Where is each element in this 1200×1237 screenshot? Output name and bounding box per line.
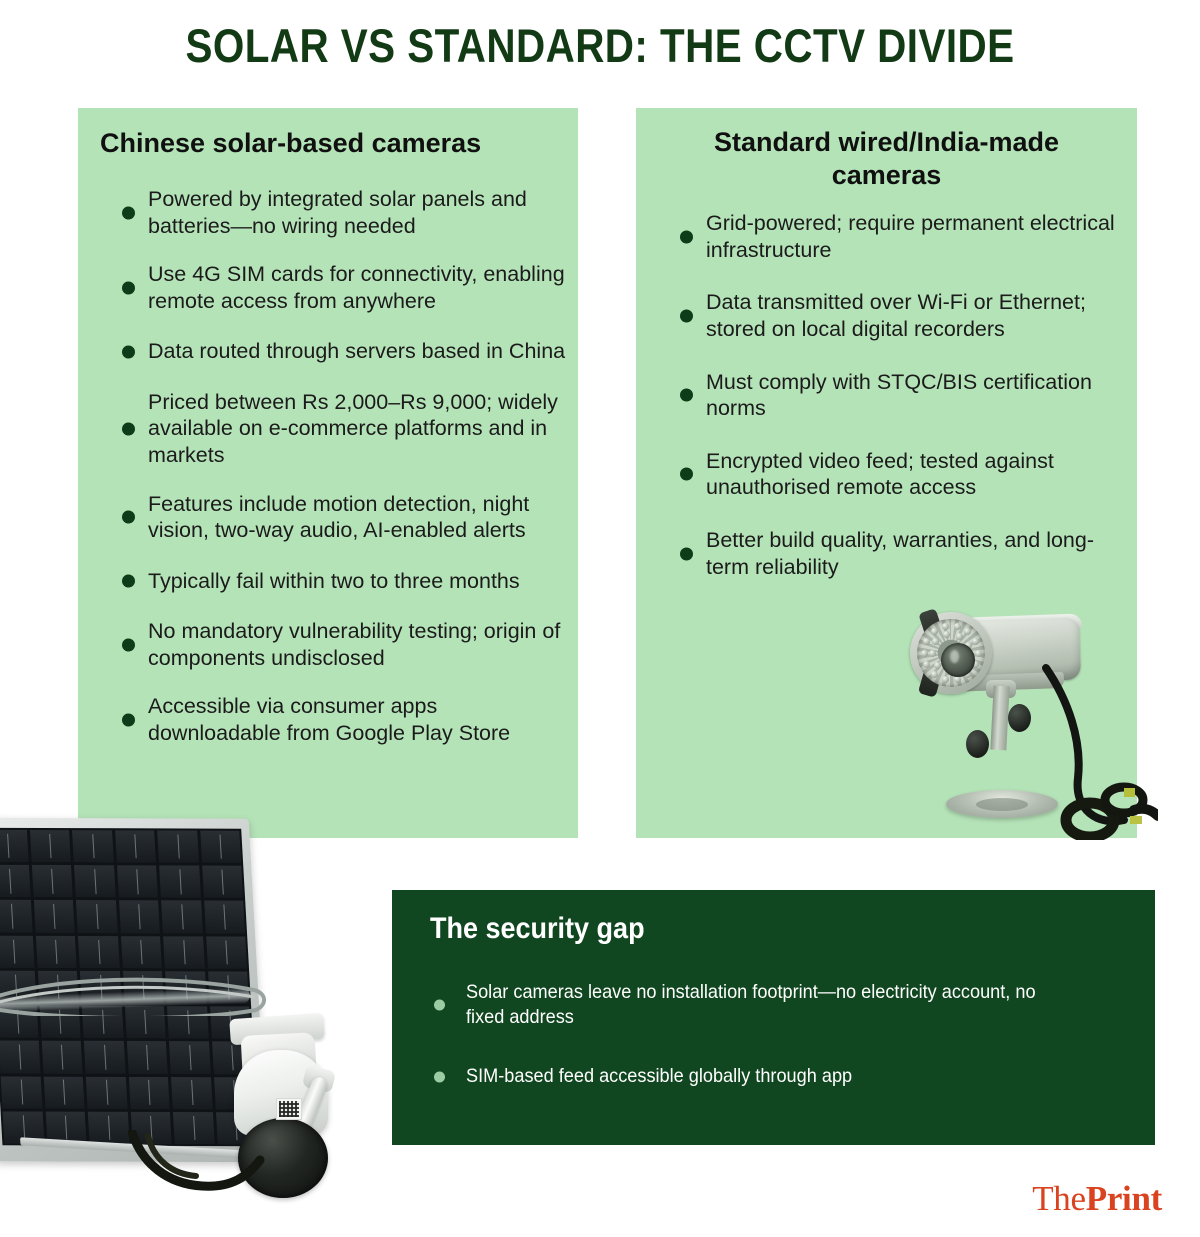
solar-cell xyxy=(117,865,158,897)
list-item: SIM-based feed accessible globally throu… xyxy=(430,1064,1115,1090)
solar-cell xyxy=(86,1076,127,1108)
solar-cell xyxy=(35,935,76,967)
bullet-dot-icon xyxy=(122,281,135,294)
solar-cell xyxy=(29,830,70,862)
solar-cell xyxy=(31,865,72,897)
solar-cell xyxy=(157,830,198,862)
cctv-base-inner-ring xyxy=(976,798,1028,811)
solar-cell xyxy=(72,830,113,862)
panel-heading-chinese-solar: Chinese solar-based cameras xyxy=(100,127,578,160)
solar-panel-cable xyxy=(128,1130,288,1234)
cctv-ir-led xyxy=(975,650,982,657)
solar-cell xyxy=(128,1076,169,1108)
list-item: Better build quality, warranties, and lo… xyxy=(658,527,1133,580)
list-item-text: Data routed through servers based in Chi… xyxy=(148,338,565,365)
list-item-text: Typically fail within two to three month… xyxy=(148,568,520,595)
solar-cell xyxy=(159,866,200,898)
list-item: Grid-powered; require permanent electric… xyxy=(658,210,1133,263)
list-item: No mandatory vulnerability testing; orig… xyxy=(100,618,574,671)
cctv-ir-led xyxy=(929,650,936,657)
list-item-text: Powered by integrated solar panels and b… xyxy=(148,186,574,239)
cctv-ir-led xyxy=(942,676,949,683)
page-title: SOLAR VS STANDARD: THE CCTV DIVIDE xyxy=(84,18,1116,73)
solar-cell xyxy=(120,936,161,968)
solar-cell xyxy=(163,936,204,968)
solar-panel-wire-hoop xyxy=(0,970,272,1016)
cctv-bracket-arm xyxy=(990,686,1009,751)
cctv-adjust-knob xyxy=(966,730,989,758)
cctv-power-cable xyxy=(1038,660,1158,840)
list-item: Must comply with STQC/BIS certification … xyxy=(658,369,1133,422)
cctv-adjust-knob xyxy=(1008,704,1031,732)
cctv-ir-led xyxy=(943,631,950,638)
list-item-text: Accessible via consumer apps downloadabl… xyxy=(148,693,574,746)
solar-cell xyxy=(161,901,202,933)
list-item: Accessible via consumer apps downloadabl… xyxy=(100,693,574,746)
cctv-infrared-led-ring xyxy=(917,619,985,687)
list-item: Data routed through servers based in Chi… xyxy=(100,337,574,367)
bullet-dot-icon xyxy=(122,713,135,726)
cctv-ir-led xyxy=(964,628,971,635)
list-item: Powered by integrated solar panels and b… xyxy=(100,186,574,239)
bullet-dot-icon xyxy=(122,206,135,219)
list-item: Priced between Rs 2,000–Rs 9,000; widely… xyxy=(100,389,574,469)
bullet-list-security-gap: Solar cameras leave no installation foot… xyxy=(430,980,1115,1090)
list-item: Use 4G SIM cards for connectivity, enabl… xyxy=(100,261,574,314)
solar-cell xyxy=(1,1076,42,1108)
solar-cell xyxy=(0,830,28,862)
solar-cell xyxy=(0,1041,40,1073)
security-gap-box: The security gap Solar cameras leave no … xyxy=(392,890,1155,1145)
list-item-text: Must comply with STQC/BIS certification … xyxy=(706,369,1133,422)
list-item-text: Better build quality, warranties, and lo… xyxy=(706,527,1133,580)
bullet-list-chinese-solar: Powered by integrated solar panels and b… xyxy=(100,186,574,747)
bullet-dot-icon xyxy=(434,999,445,1010)
solar-cell xyxy=(74,865,115,897)
list-item-text: Data transmitted over Wi-Fi or Ethernet;… xyxy=(706,289,1133,342)
cctv-ir-led xyxy=(942,623,949,630)
solar-cell xyxy=(0,900,32,932)
cctv-lens-housing xyxy=(910,612,992,694)
solar-cell xyxy=(206,936,247,968)
list-item-text: Use 4G SIM cards for connectivity, enabl… xyxy=(148,261,574,314)
solar-cell xyxy=(126,1041,167,1073)
solar-cell xyxy=(171,1077,212,1109)
bullet-dot-icon xyxy=(122,638,135,651)
panel-chinese-solar-cameras: Chinese solar-based cameras Powered by i… xyxy=(78,108,578,838)
solar-cell xyxy=(115,830,156,862)
solar-cell xyxy=(76,900,117,932)
cctv-ir-led xyxy=(932,638,939,645)
security-gap-heading: The security gap xyxy=(430,912,1083,946)
list-item-text: Encrypted video feed; tested against una… xyxy=(706,448,1133,501)
solar-cell xyxy=(84,1041,125,1073)
solar-cell xyxy=(0,935,34,967)
list-item: Features include motion detection, night… xyxy=(100,491,574,544)
bullet-dot-icon xyxy=(122,511,135,524)
solar-cell xyxy=(78,936,119,968)
solar-cell xyxy=(204,901,245,933)
bullet-dot-icon xyxy=(122,422,135,435)
bullet-list-standard-wired: Grid-powered; require permanent electric… xyxy=(658,210,1133,581)
cctv-ir-led xyxy=(923,638,930,645)
bullet-dot-icon xyxy=(122,574,135,587)
list-item: Encrypted video feed; tested against una… xyxy=(658,448,1133,501)
list-item-text: SIM-based feed accessible globally throu… xyxy=(466,1064,852,1089)
list-item-text: Grid-powered; require permanent electric… xyxy=(706,210,1133,263)
bullet-dot-icon xyxy=(122,345,135,358)
panel-heading-standard-wired: Standard wired/India-made cameras xyxy=(666,126,1107,192)
list-item: Typically fail within two to three month… xyxy=(100,566,574,596)
cctv-ir-led xyxy=(931,628,938,635)
bullet-dot-icon xyxy=(680,230,693,243)
cctv-ir-led xyxy=(923,661,930,668)
bullet-dot-icon xyxy=(680,547,693,560)
solar-cell xyxy=(200,831,241,863)
solar-cell xyxy=(169,1041,210,1073)
solar-cell xyxy=(43,1076,84,1108)
theprint-logo: ThePrint xyxy=(1032,1179,1162,1219)
cctv-ir-led xyxy=(956,633,963,640)
list-item: Solar cameras leave no installation foot… xyxy=(430,980,1115,1030)
cctv-ir-led xyxy=(931,671,938,678)
solar-cell xyxy=(0,865,30,897)
solar-cell xyxy=(33,900,74,932)
bullet-dot-icon xyxy=(680,468,693,481)
bullet-dot-icon xyxy=(680,309,693,322)
logo-text-print: Print xyxy=(1086,1179,1162,1218)
bullet-dot-icon xyxy=(680,389,693,402)
solar-cell xyxy=(88,1111,129,1143)
cctv-ir-led xyxy=(921,650,928,657)
bullet-dot-icon xyxy=(434,1071,445,1082)
solar-cell xyxy=(119,901,160,933)
cctv-ir-led xyxy=(972,638,979,645)
cctv-bullet-camera-photo xyxy=(888,608,1156,846)
solar-cell xyxy=(41,1041,82,1073)
ptz-qr-code-label xyxy=(276,1098,302,1120)
list-item-text: No mandatory vulnerability testing; orig… xyxy=(148,618,574,671)
cctv-ir-led xyxy=(934,662,941,669)
solar-panel-ptz-camera-photo xyxy=(0,800,398,1237)
logo-text-the: The xyxy=(1032,1179,1086,1218)
cctv-ir-led xyxy=(954,623,961,630)
cctv-lens-glint xyxy=(950,650,959,663)
list-item-text: Solar cameras leave no installation foot… xyxy=(466,980,1070,1030)
list-item-text: Priced between Rs 2,000–Rs 9,000; widely… xyxy=(148,389,574,469)
solar-cell xyxy=(202,866,243,898)
cctv-lens xyxy=(941,643,975,677)
list-item: Data transmitted over Wi-Fi or Ethernet;… xyxy=(658,289,1133,342)
list-item-text: Features include motion detection, night… xyxy=(148,491,574,544)
